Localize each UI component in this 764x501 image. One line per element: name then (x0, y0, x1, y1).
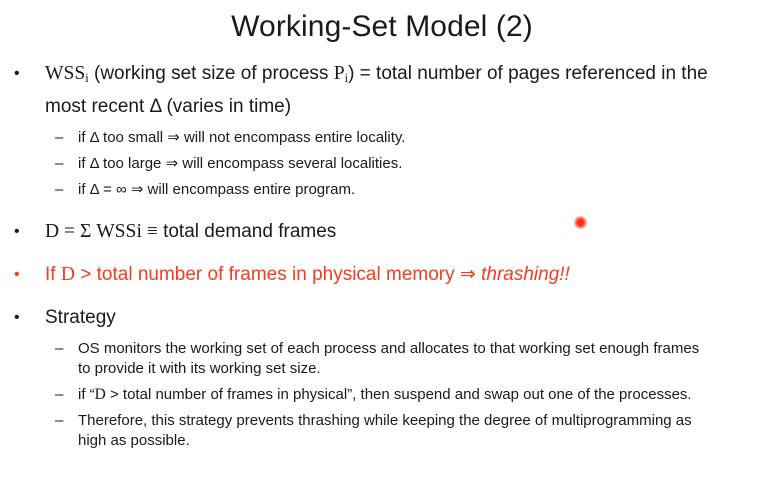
sub-bullet-text: if “D > total number of frames in physic… (78, 385, 764, 405)
emphasis-thrashing: thrashing!! (481, 264, 570, 285)
math-d: D (61, 264, 75, 285)
sub-bullet-marker: – (55, 128, 63, 148)
sub-bullet-os-monitors: – OS monitors the working set of each pr… (0, 339, 764, 379)
bullet-text-thrashing-lead: If (45, 264, 61, 285)
spacer (0, 290, 764, 302)
slide-title: Working-Set Model (2) (0, 8, 764, 46)
bullet-item-thrashing: • If D > total number of frames in physi… (0, 259, 764, 290)
bullet-text-demand-tail: total demand frames (158, 221, 336, 242)
bullet-text-wss: WSSi (working set size of process Pi) = … (45, 58, 764, 122)
bullet-text-demand-frames: D = Σ WSSi ≡ total demand frames (45, 216, 764, 247)
sub-bullet-text-tail: > total number of frames in physical”, t… (106, 386, 692, 403)
sub-bullet-marker: – (55, 339, 63, 359)
math-total-demand: D = Σ WSSi ≡ (45, 221, 158, 242)
bullet-marker: • (14, 259, 20, 290)
sub-bullet-text-lead: if “ (78, 386, 95, 403)
sub-bullet-marker: – (55, 385, 63, 405)
bullet-text-wss-mid: (working set size of process (89, 63, 334, 84)
math-p-subscript: i (345, 71, 348, 85)
bullet-text-thrashing-mid: > total number of frames in physical mem… (75, 264, 481, 285)
sub-bullet-prevents-thrashing: – Therefore, this strategy prevents thra… (0, 411, 764, 451)
bullet-item-demand-frames: • D = Σ WSSi ≡ total demand frames (0, 216, 764, 247)
sub-bullet-suspend-swap: – if “D > total number of frames in phys… (0, 385, 764, 405)
sub-bullet-marker: – (55, 154, 63, 174)
bullet-text-strategy: Strategy (45, 302, 764, 333)
sub-bullet-text: if Δ = ∞ ⇒ will encompass entire program… (78, 180, 764, 200)
bullet-item-wss: • WSSi (working set size of process Pi) … (0, 58, 764, 122)
math-p-base: P (334, 63, 345, 84)
slide-body: • WSSi (working set size of process Pi) … (0, 58, 764, 451)
sub-bullet-marker: – (55, 180, 63, 200)
sub-bullet-delta-too-large: – if Δ too large ⇒ will encompass severa… (0, 154, 764, 174)
bullet-marker: • (14, 216, 20, 247)
sub-bullet-delta-too-small: – if Δ too small ⇒ will not encompass en… (0, 128, 764, 148)
presentation-slide: Working-Set Model (2) • WSSi (working se… (0, 0, 764, 501)
math-wss-base: WSS (45, 63, 85, 84)
bullet-marker: • (14, 302, 20, 333)
spacer (0, 247, 764, 259)
bullet-item-strategy: • Strategy (0, 302, 764, 333)
bullet-marker: • (14, 58, 20, 89)
bullet-text-thrashing: If D > total number of frames in physica… (45, 259, 764, 290)
math-d: D (95, 386, 106, 403)
spacer (0, 200, 764, 216)
sub-bullet-text: if Δ too large ⇒ will encompass several … (78, 154, 764, 174)
sub-bullet-marker: – (55, 411, 63, 431)
math-wss: WSSi (45, 63, 89, 84)
math-wss-subscript: i (85, 71, 88, 85)
sub-bullet-text: Therefore, this strategy prevents thrash… (78, 411, 764, 451)
sub-bullet-delta-infinity: – if Δ = ∞ ⇒ will encompass entire progr… (0, 180, 764, 200)
sub-bullet-text: OS monitors the working set of each proc… (78, 339, 764, 379)
sub-bullet-text: if Δ too small ⇒ will not encompass enti… (78, 128, 764, 148)
laser-pointer-dot (574, 216, 587, 229)
math-p: Pi (334, 63, 348, 84)
